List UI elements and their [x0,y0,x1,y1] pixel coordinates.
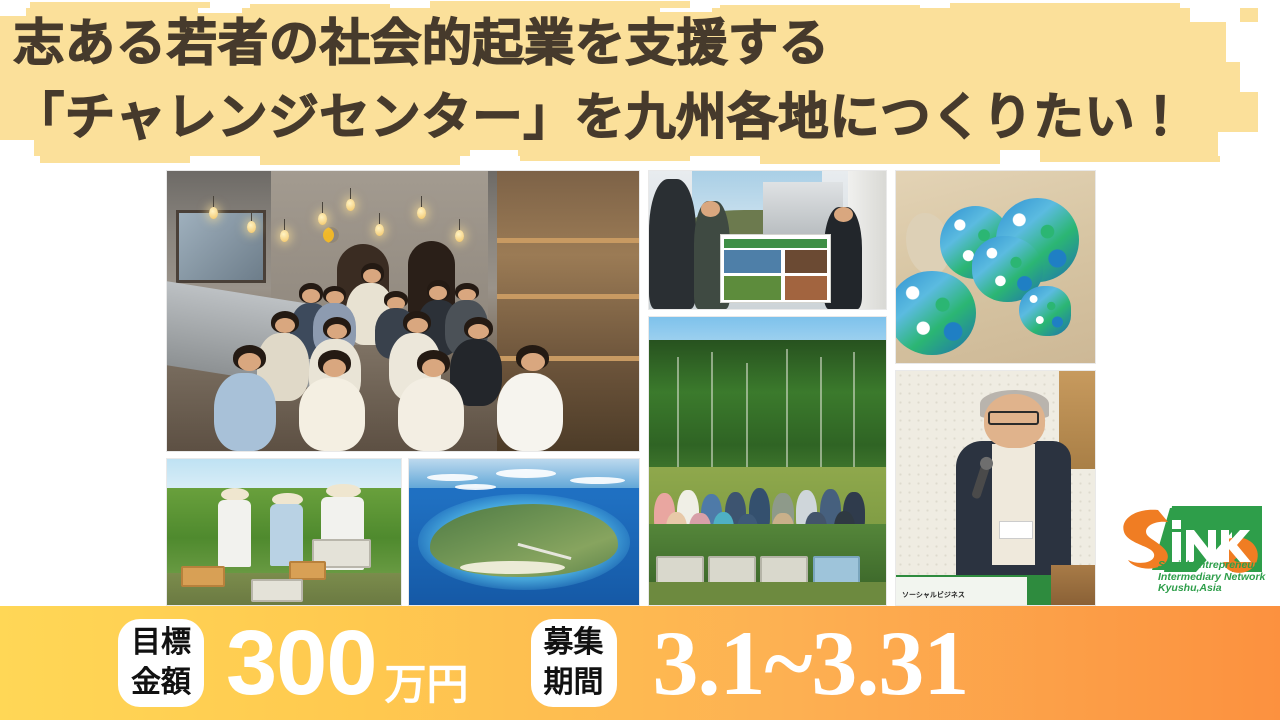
brush-edge-nib [40,156,190,163]
tagline-line-1: Social Entrepreneur [1158,560,1265,572]
headline-line-2: 「チャレンジセンター」を九州各地につくりたい！ [14,80,1274,154]
page-title: 志ある若者の社会的起業を支援する 「チャレンジセンター」を九州各地につくりたい！ [14,6,1274,154]
campaign-summary-bar: 目標 金額 300 万円 募集 期間 3.1~3.31 [0,606,1280,720]
cafe-group-photo [166,170,640,452]
speaker-banner-label: ソーシャルビジネス [902,590,965,600]
vegetable-harvest-photo [166,458,402,606]
brush-edge-nib [1040,156,1220,162]
sinka-logo: Social Entrepreneur Intermediary Network… [1112,498,1272,600]
headline-band: 志ある若者の社会的起業を支援する 「チャレンジセンター」を九州各地につくりたい！ [0,0,1280,168]
headline-line-1: 志ある若者の社会的起業を支援する [14,6,1274,80]
campaign-period-value: 3.1~3.31 [653,617,969,709]
tagline-line-3: Kyushu,Asia [1158,583,1265,595]
brush-edge-nib [760,156,1000,164]
tree-planting-photo [648,316,887,606]
period-badge: 募集 期間 [531,619,617,707]
period-badge-line-2: 期間 [544,663,604,703]
goal-badge-line-1: 目標 [131,623,191,663]
brush-edge-nib [520,156,690,161]
speaker-photo: ソーシャルビジネス [895,370,1096,606]
island-aerial-photo [408,458,640,606]
goal-amount-unit: 万円 [385,664,469,706]
goal-badge-line-2: 金額 [131,663,191,703]
sinka-logo-tagline: Social Entrepreneur Intermediary Network… [1158,560,1265,595]
period-badge-line-1: 募集 [544,623,604,663]
recycled-plastic-photo [895,170,1096,364]
goal-amount-badge: 目標 金額 [118,619,204,707]
poster-presentation-photo [648,170,887,310]
brush-edge-nib [260,156,460,165]
photo-collage: ソーシャルビジネス [166,170,1096,606]
campaign-banner: 志ある若者の社会的起業を支援する 「チャレンジセンター」を九州各地につくりたい！ [0,0,1280,720]
goal-amount-value: 300 [226,617,377,709]
